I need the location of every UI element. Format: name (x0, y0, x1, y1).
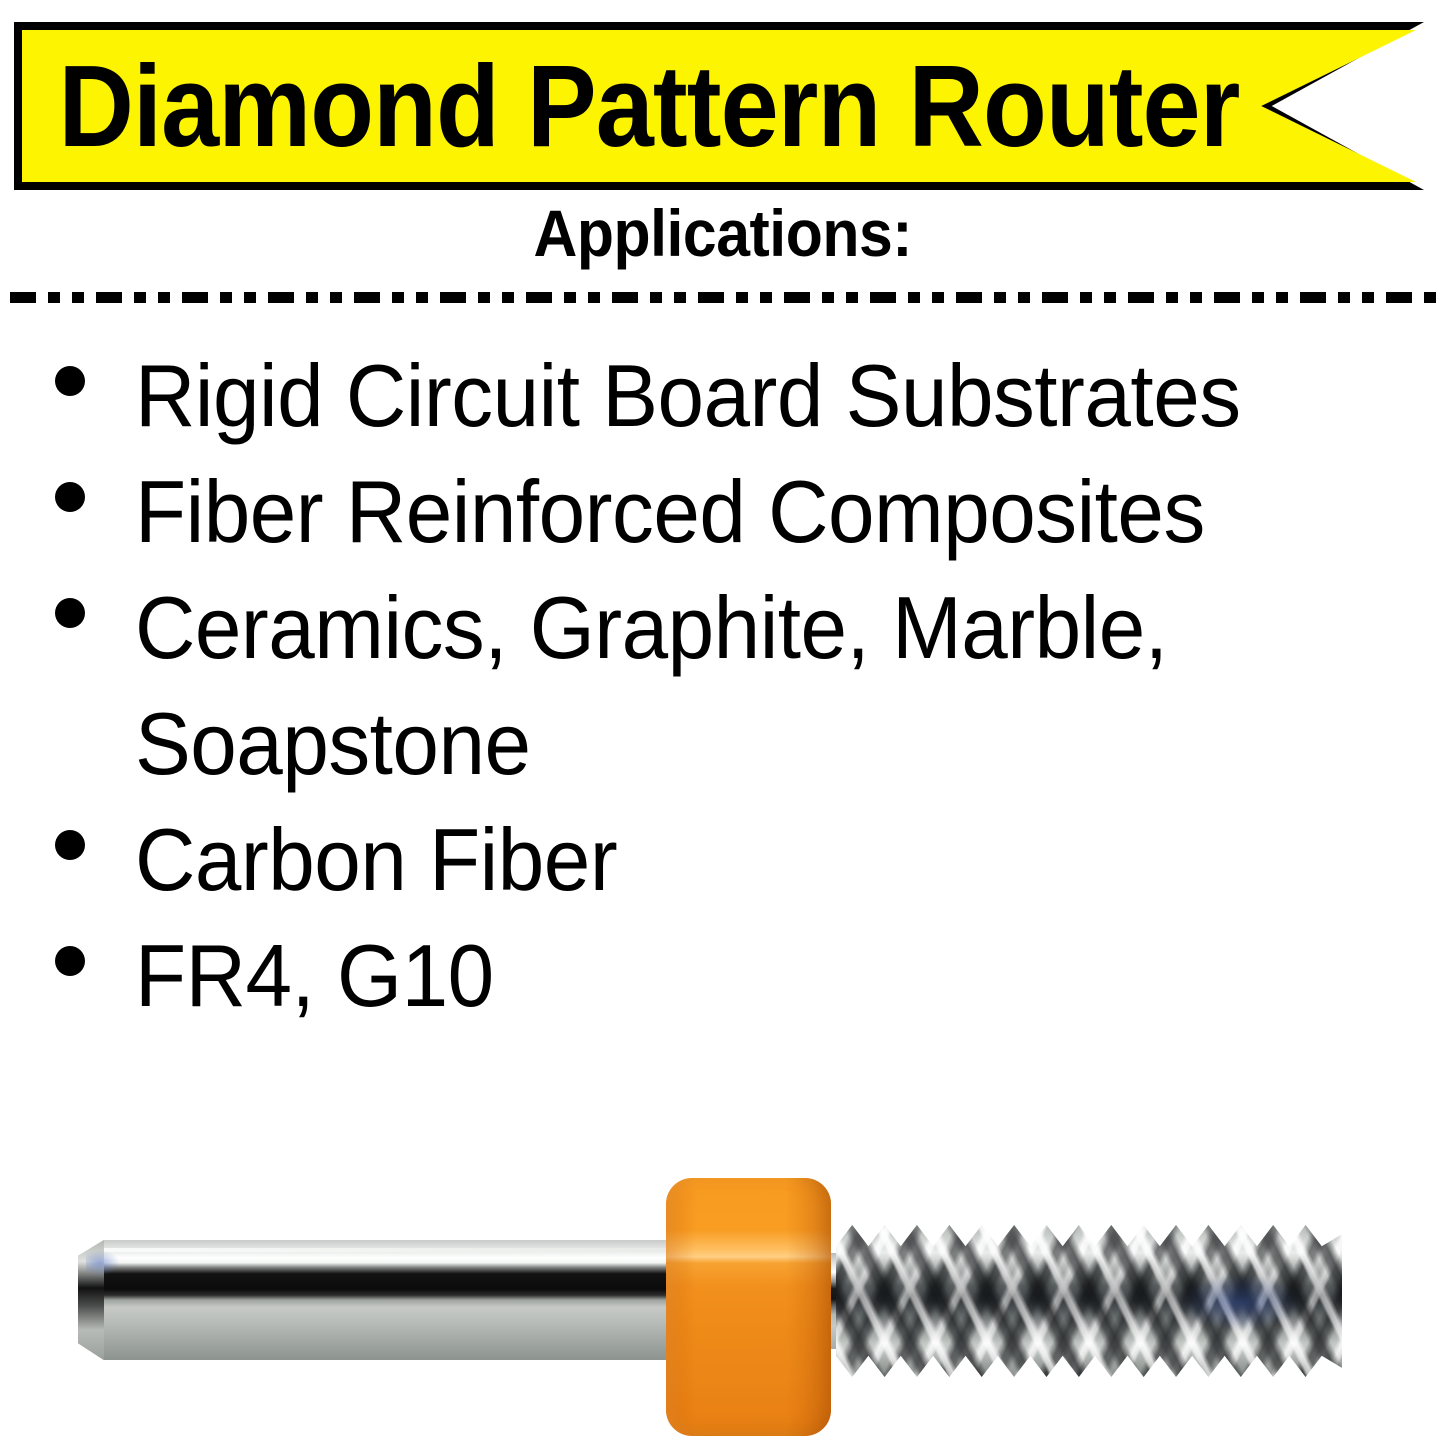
list-item-label: Rigid Circuit Board Substrates (135, 338, 1371, 454)
list-item: Rigid Circuit Board Substrates (36, 338, 1436, 454)
diamond-pattern-flutes (836, 1225, 1342, 1377)
applications-list: Rigid Circuit Board Substrates Fiber Rei… (36, 338, 1436, 1034)
shank-blue-tint (86, 1250, 120, 1276)
router-bit-shank (78, 1240, 718, 1360)
product-infographic: Diamond Pattern Router Applications: Rig… (0, 0, 1445, 1445)
collar-right-shading (786, 1178, 831, 1436)
list-item: FR4, G10 (36, 918, 1436, 1034)
list-item-label: Ceramics, Graphite, Marble, (135, 570, 1371, 686)
title-banner: Diamond Pattern Router (14, 22, 1424, 190)
applications-heading-label: Applications: (533, 200, 912, 266)
bullet-icon (36, 918, 135, 1014)
list-item-label-continuation: Soapstone (135, 686, 1371, 802)
product-photo (0, 1130, 1445, 1445)
shank-highlight (84, 1248, 708, 1252)
list-item-label: Fiber Reinforced Composites (135, 454, 1371, 570)
list-item-label: Carbon Fiber (135, 802, 1371, 918)
list-item: Carbon Fiber (36, 802, 1436, 918)
list-item: Fiber Reinforced Composites (36, 454, 1436, 570)
bullet-icon (36, 338, 135, 434)
list-item-label: FR4, G10 (135, 918, 1371, 1034)
list-item-first-line: Ceramics, Graphite, Marble, (36, 570, 1436, 686)
list-item: Ceramics, Graphite, Marble, Soapstone (36, 570, 1436, 802)
applications-heading: Applications: (0, 200, 1445, 266)
bullet-icon (36, 802, 135, 898)
collar-left-shading (666, 1178, 696, 1436)
bullet-icon (36, 454, 135, 550)
page-title: Diamond Pattern Router (78, 22, 1221, 190)
bullet-icon (36, 570, 135, 666)
section-divider (10, 292, 1438, 303)
